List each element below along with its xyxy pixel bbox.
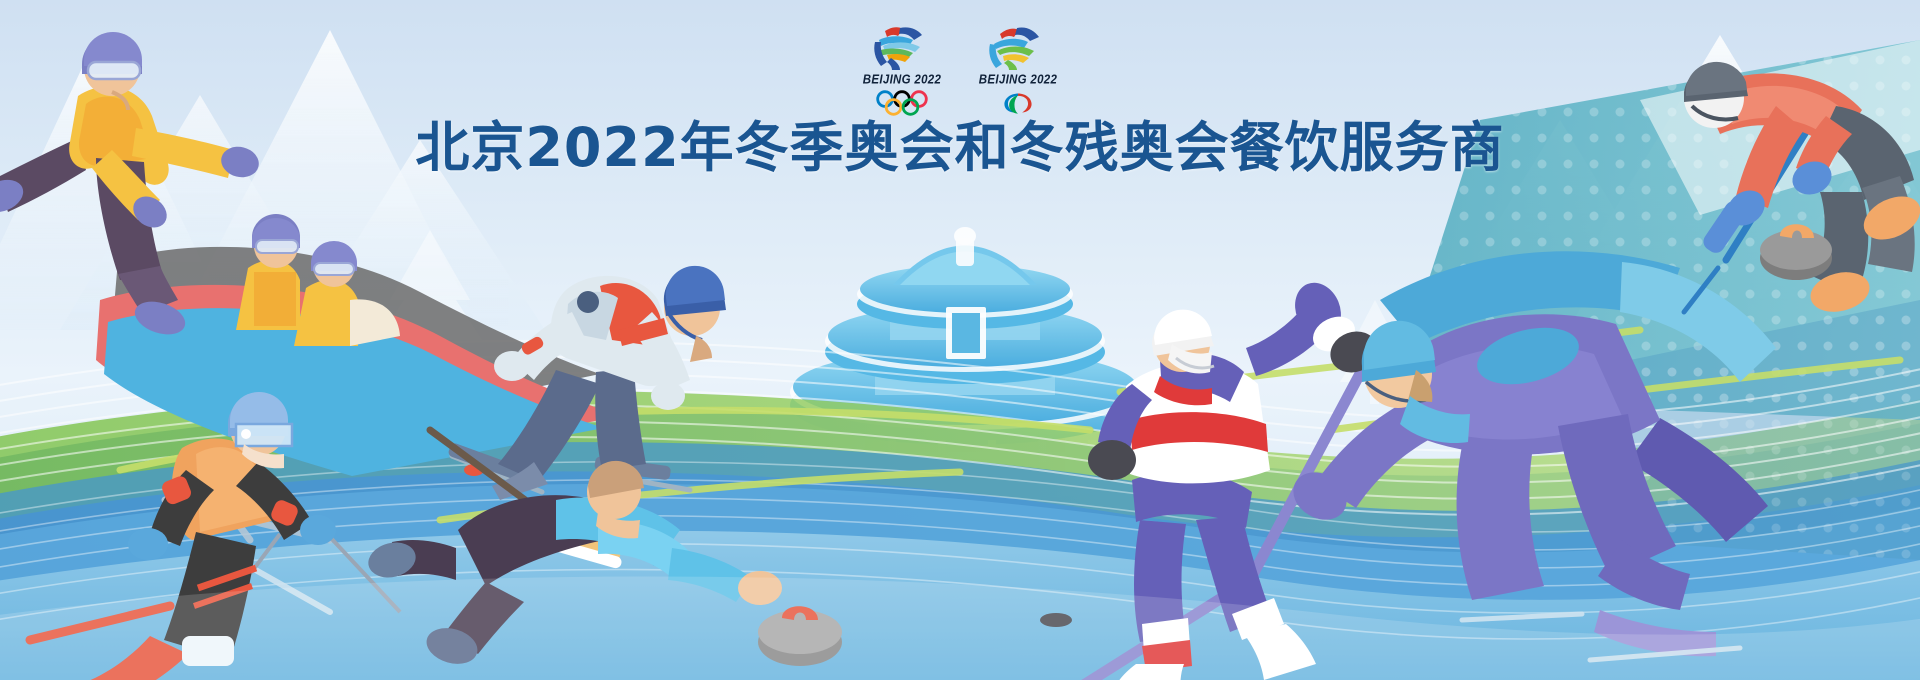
olympic-emblem: BEIJING 2022 — [858, 22, 946, 116]
olympic-rings-icon — [872, 90, 932, 116]
paralympic-emblem: BEIJING 2022 — [974, 22, 1062, 116]
page-title: 北京2022年冬季奥会和冬残奥会餐饮服务商 — [0, 118, 1920, 177]
emblem-row: BEIJING 2022 B — [858, 22, 1062, 116]
paralympic-wordmark: BEIJING 2022 — [979, 74, 1057, 87]
winter-dream-ribbon-icon — [867, 22, 937, 72]
flying-high-ribbon-icon — [983, 22, 1053, 72]
agitos-icon — [995, 90, 1041, 116]
olympic-wordmark: BEIJING 2022 — [863, 74, 941, 87]
beijing-2022-banner: BEIJING 2022 B — [0, 0, 1920, 680]
